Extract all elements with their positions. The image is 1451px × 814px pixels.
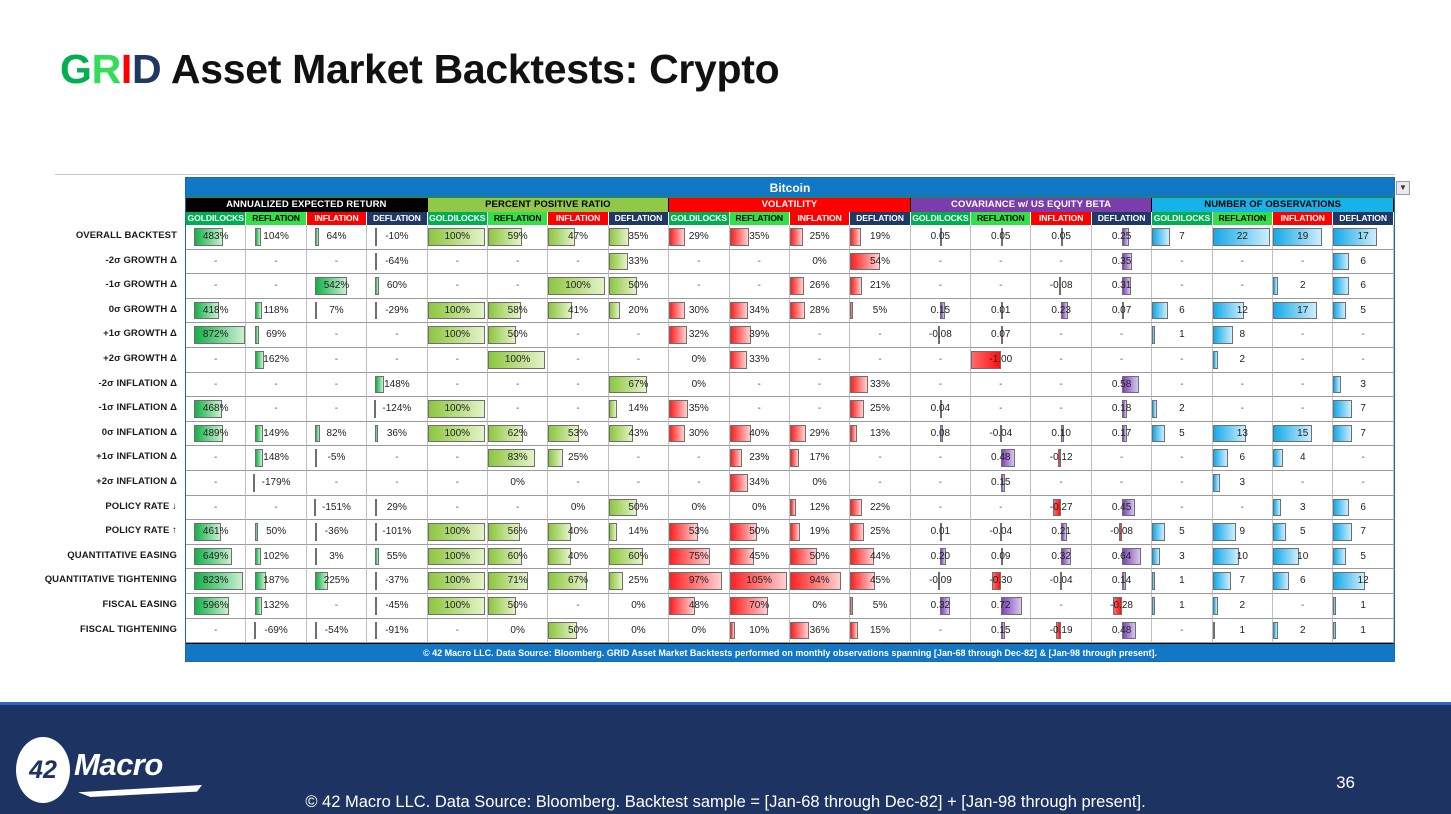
cell-aer-inflation[interactable]: - <box>307 250 367 275</box>
cell-vol-goldilocks[interactable]: 0% <box>669 348 729 373</box>
cell-ppr-deflation[interactable]: 0% <box>609 594 669 619</box>
cell-obs-goldilocks[interactable]: 3 <box>1152 545 1212 570</box>
cell-ppr-goldilocks[interactable]: - <box>428 373 488 398</box>
cell-aer-deflation[interactable]: -10% <box>367 225 427 250</box>
cell-cov-reflation[interactable]: 0.48 <box>971 446 1031 471</box>
cell-cov-inflation[interactable]: 0.21 <box>1031 520 1091 545</box>
cell-cov-reflation[interactable]: 0.07 <box>971 323 1031 348</box>
cell-aer-reflation[interactable]: 149% <box>246 422 306 447</box>
cell-vol-inflation[interactable]: 17% <box>790 446 850 471</box>
cell-obs-deflation[interactable]: - <box>1333 446 1393 471</box>
cell-obs-reflation[interactable]: 9 <box>1213 520 1273 545</box>
cell-cov-deflation[interactable]: 0.25 <box>1092 225 1152 250</box>
cell-aer-inflation[interactable]: -36% <box>307 520 367 545</box>
cell-ppr-reflation[interactable]: 0% <box>488 619 548 644</box>
cell-cov-reflation[interactable]: 0.72 <box>971 594 1031 619</box>
cell-obs-reflation[interactable]: 2 <box>1213 594 1273 619</box>
cell-obs-deflation[interactable]: - <box>1333 323 1393 348</box>
cell-obs-reflation[interactable]: - <box>1213 373 1273 398</box>
cell-cov-reflation[interactable]: -0.04 <box>971 422 1031 447</box>
cell-vol-goldilocks[interactable]: 48% <box>669 594 729 619</box>
cell-aer-goldilocks[interactable]: 596% <box>186 594 246 619</box>
cell-cov-goldilocks[interactable]: - <box>911 471 971 496</box>
cell-aer-reflation[interactable]: 69% <box>246 323 306 348</box>
cell-aer-deflation[interactable]: -124% <box>367 397 427 422</box>
cell-aer-deflation[interactable]: 29% <box>367 496 427 521</box>
cell-aer-goldilocks[interactable]: 461% <box>186 520 246 545</box>
cell-vol-reflation[interactable]: 23% <box>730 446 790 471</box>
cell-aer-goldilocks[interactable]: 823% <box>186 569 246 594</box>
cell-vol-inflation[interactable]: 12% <box>790 496 850 521</box>
cell-ppr-goldilocks[interactable]: 100% <box>428 569 488 594</box>
cell-vol-reflation[interactable]: - <box>730 397 790 422</box>
cell-vol-reflation[interactable]: - <box>730 373 790 398</box>
cell-vol-reflation[interactable]: 0% <box>730 496 790 521</box>
cell-ppr-deflation[interactable]: 25% <box>609 569 669 594</box>
cell-obs-inflation[interactable]: - <box>1273 471 1333 496</box>
cell-vol-inflation[interactable]: 19% <box>790 520 850 545</box>
cell-ppr-reflation[interactable]: 100% <box>488 348 548 373</box>
cell-ppr-inflation[interactable]: 40% <box>548 545 608 570</box>
cell-aer-goldilocks[interactable]: 872% <box>186 323 246 348</box>
cell-obs-deflation[interactable]: 5 <box>1333 545 1393 570</box>
cell-cov-reflation[interactable]: -1.00 <box>971 348 1031 373</box>
cell-cov-deflation[interactable]: 0.14 <box>1092 569 1152 594</box>
cell-vol-reflation[interactable]: 105% <box>730 569 790 594</box>
cell-cov-goldilocks[interactable]: - <box>911 274 971 299</box>
cell-aer-deflation[interactable]: - <box>367 323 427 348</box>
cell-obs-inflation[interactable]: - <box>1273 323 1333 348</box>
cell-aer-goldilocks[interactable]: 649% <box>186 545 246 570</box>
cell-ppr-reflation[interactable]: - <box>488 250 548 275</box>
cell-vol-deflation[interactable]: - <box>850 323 910 348</box>
cell-aer-inflation[interactable]: -151% <box>307 496 367 521</box>
cell-vol-deflation[interactable]: 44% <box>850 545 910 570</box>
cell-ppr-inflation[interactable]: - <box>548 348 608 373</box>
cell-obs-reflation[interactable]: 2 <box>1213 348 1273 373</box>
cell-ppr-reflation[interactable]: - <box>488 373 548 398</box>
cell-vol-goldilocks[interactable]: 35% <box>669 397 729 422</box>
cell-vol-goldilocks[interactable]: - <box>669 471 729 496</box>
cell-obs-inflation[interactable]: 2 <box>1273 619 1333 644</box>
cell-aer-goldilocks[interactable]: - <box>186 446 246 471</box>
cell-ppr-reflation[interactable]: - <box>488 496 548 521</box>
cell-vol-deflation[interactable]: 15% <box>850 619 910 644</box>
cell-aer-inflation[interactable]: 225% <box>307 569 367 594</box>
cell-vol-reflation[interactable]: 33% <box>730 348 790 373</box>
cell-ppr-deflation[interactable]: 50% <box>609 496 669 521</box>
cell-ppr-reflation[interactable]: 58% <box>488 299 548 324</box>
cell-ppr-reflation[interactable]: 0% <box>488 471 548 496</box>
cell-cov-inflation[interactable]: -0.27 <box>1031 496 1091 521</box>
cell-cov-inflation[interactable]: -0.12 <box>1031 446 1091 471</box>
cell-cov-reflation[interactable]: 0.09 <box>971 545 1031 570</box>
cell-aer-reflation[interactable]: - <box>246 250 306 275</box>
cell-cov-reflation[interactable]: 0.15 <box>971 619 1031 644</box>
cell-cov-deflation[interactable]: 0.17 <box>1092 422 1152 447</box>
cell-aer-deflation[interactable]: 55% <box>367 545 427 570</box>
cell-ppr-goldilocks[interactable]: - <box>428 446 488 471</box>
cell-vol-reflation[interactable]: 70% <box>730 594 790 619</box>
cell-ppr-inflation[interactable]: - <box>548 250 608 275</box>
cell-vol-deflation[interactable]: 54% <box>850 250 910 275</box>
cell-ppr-reflation[interactable]: 50% <box>488 594 548 619</box>
cell-vol-deflation[interactable]: 25% <box>850 397 910 422</box>
cell-ppr-deflation[interactable]: 0% <box>609 619 669 644</box>
cell-vol-inflation[interactable]: 29% <box>790 422 850 447</box>
cell-obs-inflation[interactable]: - <box>1273 373 1333 398</box>
cell-obs-goldilocks[interactable]: - <box>1152 619 1212 644</box>
cell-aer-deflation[interactable]: -45% <box>367 594 427 619</box>
cell-aer-goldilocks[interactable]: - <box>186 619 246 644</box>
cell-ppr-inflation[interactable]: - <box>548 323 608 348</box>
cell-obs-reflation[interactable]: 6 <box>1213 446 1273 471</box>
cell-vol-goldilocks[interactable]: 32% <box>669 323 729 348</box>
cell-cov-inflation[interactable]: 0.10 <box>1031 422 1091 447</box>
cell-obs-deflation[interactable]: 1 <box>1333 619 1393 644</box>
cell-cov-inflation[interactable]: -0.04 <box>1031 569 1091 594</box>
cell-vol-inflation[interactable]: 36% <box>790 619 850 644</box>
cell-vol-reflation[interactable]: 50% <box>730 520 790 545</box>
cell-ppr-inflation[interactable]: 50% <box>548 619 608 644</box>
cell-obs-deflation[interactable]: 3 <box>1333 373 1393 398</box>
cell-ppr-reflation[interactable]: 71% <box>488 569 548 594</box>
cell-cov-reflation[interactable]: - <box>971 373 1031 398</box>
cell-aer-inflation[interactable]: -54% <box>307 619 367 644</box>
cell-ppr-inflation[interactable]: - <box>548 594 608 619</box>
cell-cov-goldilocks[interactable]: 0.20 <box>911 545 971 570</box>
cell-vol-deflation[interactable]: 25% <box>850 520 910 545</box>
cell-obs-reflation[interactable]: 3 <box>1213 471 1273 496</box>
cell-obs-inflation[interactable]: 5 <box>1273 520 1333 545</box>
cell-cov-reflation[interactable]: - <box>971 250 1031 275</box>
cell-cov-deflation[interactable]: 0.18 <box>1092 397 1152 422</box>
cell-aer-reflation[interactable]: 118% <box>246 299 306 324</box>
cell-cov-inflation[interactable]: - <box>1031 373 1091 398</box>
cell-aer-inflation[interactable]: - <box>307 323 367 348</box>
cell-cov-goldilocks[interactable]: - <box>911 619 971 644</box>
cell-obs-reflation[interactable]: 1 <box>1213 619 1273 644</box>
cell-aer-inflation[interactable]: -5% <box>307 446 367 471</box>
cell-obs-reflation[interactable]: 10 <box>1213 545 1273 570</box>
cell-vol-reflation[interactable]: - <box>730 250 790 275</box>
cell-ppr-deflation[interactable]: 35% <box>609 225 669 250</box>
cell-vol-reflation[interactable]: 35% <box>730 225 790 250</box>
cell-cov-reflation[interactable]: 0.05 <box>971 225 1031 250</box>
cell-vol-inflation[interactable]: - <box>790 348 850 373</box>
cell-aer-inflation[interactable]: 3% <box>307 545 367 570</box>
cell-ppr-inflation[interactable]: - <box>548 471 608 496</box>
cell-vol-inflation[interactable]: 0% <box>790 250 850 275</box>
cell-ppr-deflation[interactable]: - <box>609 471 669 496</box>
cell-ppr-inflation[interactable]: 67% <box>548 569 608 594</box>
cell-cov-reflation[interactable]: 0.15 <box>971 471 1031 496</box>
cell-vol-goldilocks[interactable]: - <box>669 446 729 471</box>
cell-cov-goldilocks[interactable]: 0.04 <box>911 397 971 422</box>
cell-ppr-reflation[interactable]: - <box>488 397 548 422</box>
cell-ppr-goldilocks[interactable]: 100% <box>428 594 488 619</box>
cell-cov-inflation[interactable]: - <box>1031 397 1091 422</box>
cell-obs-deflation[interactable]: 7 <box>1333 397 1393 422</box>
cell-ppr-goldilocks[interactable]: 100% <box>428 323 488 348</box>
cell-ppr-deflation[interactable]: 50% <box>609 274 669 299</box>
cell-ppr-inflation[interactable]: 25% <box>548 446 608 471</box>
cell-vol-deflation[interactable]: 33% <box>850 373 910 398</box>
cell-obs-deflation[interactable]: 12 <box>1333 569 1393 594</box>
cell-ppr-reflation[interactable]: 59% <box>488 225 548 250</box>
cell-cov-deflation[interactable]: -0.28 <box>1092 594 1152 619</box>
cell-aer-deflation[interactable]: -101% <box>367 520 427 545</box>
cell-cov-goldilocks[interactable]: - <box>911 373 971 398</box>
cell-ppr-deflation[interactable]: - <box>609 446 669 471</box>
cell-cov-goldilocks[interactable]: 0.32 <box>911 594 971 619</box>
cell-ppr-goldilocks[interactable]: - <box>428 619 488 644</box>
cell-aer-deflation[interactable]: - <box>367 471 427 496</box>
cell-vol-deflation[interactable]: 5% <box>850 594 910 619</box>
cell-cov-goldilocks[interactable]: -0.08 <box>911 323 971 348</box>
cell-obs-goldilocks[interactable]: - <box>1152 274 1212 299</box>
cell-obs-inflation[interactable]: 2 <box>1273 274 1333 299</box>
cell-obs-goldilocks[interactable]: 5 <box>1152 520 1212 545</box>
cell-aer-goldilocks[interactable]: - <box>186 471 246 496</box>
cell-aer-inflation[interactable]: - <box>307 348 367 373</box>
cell-ppr-deflation[interactable]: 14% <box>609 520 669 545</box>
cell-vol-goldilocks[interactable]: - <box>669 250 729 275</box>
cell-ppr-reflation[interactable]: 56% <box>488 520 548 545</box>
cell-cov-inflation[interactable]: -0.19 <box>1031 619 1091 644</box>
cell-vol-reflation[interactable]: 39% <box>730 323 790 348</box>
cell-ppr-reflation[interactable]: - <box>488 274 548 299</box>
cell-obs-deflation[interactable]: 7 <box>1333 520 1393 545</box>
cell-aer-deflation[interactable]: -91% <box>367 619 427 644</box>
cell-obs-goldilocks[interactable]: 1 <box>1152 569 1212 594</box>
cell-ppr-deflation[interactable]: 14% <box>609 397 669 422</box>
chevron-down-icon[interactable]: ▼ <box>1396 181 1410 195</box>
cell-aer-deflation[interactable]: -64% <box>367 250 427 275</box>
cell-cov-deflation[interactable]: -0.08 <box>1092 520 1152 545</box>
cell-vol-reflation[interactable]: 34% <box>730 471 790 496</box>
cell-cov-goldilocks[interactable]: 0.15 <box>911 299 971 324</box>
cell-aer-goldilocks[interactable]: - <box>186 373 246 398</box>
cell-obs-inflation[interactable]: 4 <box>1273 446 1333 471</box>
cell-vol-goldilocks[interactable]: 30% <box>669 422 729 447</box>
cell-vol-goldilocks[interactable]: 97% <box>669 569 729 594</box>
cell-aer-reflation[interactable]: 50% <box>246 520 306 545</box>
cell-aer-deflation[interactable]: -29% <box>367 299 427 324</box>
cell-vol-deflation[interactable]: 45% <box>850 569 910 594</box>
cell-cov-deflation[interactable]: 0.35 <box>1092 250 1152 275</box>
cell-aer-reflation[interactable]: 162% <box>246 348 306 373</box>
cell-aer-reflation[interactable]: 132% <box>246 594 306 619</box>
cell-obs-deflation[interactable]: - <box>1333 348 1393 373</box>
cell-aer-inflation[interactable]: 82% <box>307 422 367 447</box>
cell-vol-goldilocks[interactable]: - <box>669 274 729 299</box>
cell-ppr-goldilocks[interactable]: - <box>428 274 488 299</box>
cell-aer-goldilocks[interactable]: - <box>186 250 246 275</box>
cell-aer-goldilocks[interactable]: - <box>186 348 246 373</box>
cell-ppr-goldilocks[interactable]: - <box>428 496 488 521</box>
cell-vol-inflation[interactable]: 26% <box>790 274 850 299</box>
cell-ppr-deflation[interactable]: - <box>609 348 669 373</box>
cell-cov-goldilocks[interactable]: 0.08 <box>911 422 971 447</box>
cell-obs-inflation[interactable]: 3 <box>1273 496 1333 521</box>
cell-cov-goldilocks[interactable]: - <box>911 348 971 373</box>
cell-obs-goldilocks[interactable]: 5 <box>1152 422 1212 447</box>
cell-ppr-goldilocks[interactable]: - <box>428 250 488 275</box>
cell-aer-inflation[interactable]: - <box>307 594 367 619</box>
cell-vol-deflation[interactable]: - <box>850 348 910 373</box>
cell-aer-goldilocks[interactable]: 468% <box>186 397 246 422</box>
cell-cov-inflation[interactable]: - <box>1031 250 1091 275</box>
cell-ppr-goldilocks[interactable]: 100% <box>428 397 488 422</box>
cell-aer-reflation[interactable]: -69% <box>246 619 306 644</box>
cell-ppr-deflation[interactable]: 33% <box>609 250 669 275</box>
cell-ppr-inflation[interactable]: 40% <box>548 520 608 545</box>
cell-aer-goldilocks[interactable]: 489% <box>186 422 246 447</box>
cell-obs-deflation[interactable]: 1 <box>1333 594 1393 619</box>
cell-cov-goldilocks[interactable]: 0.05 <box>911 225 971 250</box>
cell-cov-goldilocks[interactable]: - <box>911 446 971 471</box>
cell-aer-inflation[interactable]: 7% <box>307 299 367 324</box>
cell-ppr-deflation[interactable]: 67% <box>609 373 669 398</box>
cell-vol-goldilocks[interactable]: 0% <box>669 373 729 398</box>
cell-ppr-deflation[interactable]: 20% <box>609 299 669 324</box>
cell-ppr-inflation[interactable]: 53% <box>548 422 608 447</box>
cell-obs-deflation[interactable]: 6 <box>1333 250 1393 275</box>
cell-cov-goldilocks[interactable]: - <box>911 496 971 521</box>
cell-ppr-goldilocks[interactable]: - <box>428 471 488 496</box>
cell-cov-deflation[interactable]: 0.31 <box>1092 274 1152 299</box>
cell-obs-inflation[interactable]: 6 <box>1273 569 1333 594</box>
cell-vol-deflation[interactable]: 21% <box>850 274 910 299</box>
cell-obs-deflation[interactable]: 17 <box>1333 225 1393 250</box>
cell-obs-inflation[interactable]: - <box>1273 594 1333 619</box>
cell-cov-reflation[interactable]: - <box>971 397 1031 422</box>
cell-obs-reflation[interactable]: - <box>1213 496 1273 521</box>
cell-aer-inflation[interactable]: - <box>307 397 367 422</box>
cell-obs-goldilocks[interactable]: - <box>1152 348 1212 373</box>
cell-cov-reflation[interactable]: - <box>971 496 1031 521</box>
cell-obs-reflation[interactable]: - <box>1213 397 1273 422</box>
cell-cov-reflation[interactable]: - <box>971 274 1031 299</box>
cell-vol-goldilocks[interactable]: 53% <box>669 520 729 545</box>
cell-vol-inflation[interactable]: 94% <box>790 569 850 594</box>
cell-obs-inflation[interactable]: 17 <box>1273 299 1333 324</box>
cell-aer-inflation[interactable]: - <box>307 471 367 496</box>
cell-vol-reflation[interactable]: - <box>730 274 790 299</box>
cell-obs-reflation[interactable]: 22 <box>1213 225 1273 250</box>
cell-obs-inflation[interactable]: - <box>1273 250 1333 275</box>
cell-vol-inflation[interactable]: - <box>790 373 850 398</box>
cell-obs-reflation[interactable]: 12 <box>1213 299 1273 324</box>
cell-ppr-inflation[interactable]: 100% <box>548 274 608 299</box>
cell-obs-goldilocks[interactable]: - <box>1152 496 1212 521</box>
cell-obs-deflation[interactable]: 5 <box>1333 299 1393 324</box>
cell-vol-reflation[interactable]: 34% <box>730 299 790 324</box>
cell-obs-reflation[interactable]: - <box>1213 274 1273 299</box>
cell-vol-inflation[interactable]: 28% <box>790 299 850 324</box>
cell-aer-reflation[interactable]: - <box>246 274 306 299</box>
cell-ppr-reflation[interactable]: 60% <box>488 545 548 570</box>
cell-obs-inflation[interactable]: - <box>1273 397 1333 422</box>
cell-obs-inflation[interactable]: 10 <box>1273 545 1333 570</box>
cell-aer-reflation[interactable]: - <box>246 397 306 422</box>
cell-obs-goldilocks[interactable]: - <box>1152 446 1212 471</box>
cell-aer-goldilocks[interactable]: - <box>186 496 246 521</box>
cell-cov-inflation[interactable]: 0.23 <box>1031 299 1091 324</box>
cell-ppr-reflation[interactable]: 62% <box>488 422 548 447</box>
cell-vol-goldilocks[interactable]: 0% <box>669 619 729 644</box>
cell-cov-inflation[interactable]: - <box>1031 471 1091 496</box>
cell-vol-inflation[interactable]: 0% <box>790 594 850 619</box>
cell-ppr-goldilocks[interactable]: 100% <box>428 520 488 545</box>
cell-obs-goldilocks[interactable]: 6 <box>1152 299 1212 324</box>
cell-aer-inflation[interactable]: 542% <box>307 274 367 299</box>
cell-vol-inflation[interactable]: - <box>790 323 850 348</box>
cell-vol-reflation[interactable]: 45% <box>730 545 790 570</box>
cell-ppr-inflation[interactable]: 0% <box>548 496 608 521</box>
cell-aer-reflation[interactable]: - <box>246 496 306 521</box>
cell-obs-goldilocks[interactable]: 1 <box>1152 323 1212 348</box>
cell-aer-deflation[interactable]: - <box>367 446 427 471</box>
cell-cov-deflation[interactable]: 0.48 <box>1092 619 1152 644</box>
cell-cov-inflation[interactable]: - <box>1031 348 1091 373</box>
cell-vol-deflation[interactable]: 5% <box>850 299 910 324</box>
cell-ppr-goldilocks[interactable]: 100% <box>428 545 488 570</box>
cell-obs-deflation[interactable]: 7 <box>1333 422 1393 447</box>
cell-aer-reflation[interactable]: -179% <box>246 471 306 496</box>
cell-cov-reflation[interactable]: -0.30 <box>971 569 1031 594</box>
cell-ppr-goldilocks[interactable]: - <box>428 348 488 373</box>
cell-vol-inflation[interactable]: 0% <box>790 471 850 496</box>
cell-vol-goldilocks[interactable]: 29% <box>669 225 729 250</box>
cell-aer-goldilocks[interactable]: 483% <box>186 225 246 250</box>
cell-cov-reflation[interactable]: -0.04 <box>971 520 1031 545</box>
cell-cov-deflation[interactable]: - <box>1092 446 1152 471</box>
cell-ppr-deflation[interactable]: - <box>609 323 669 348</box>
cell-obs-deflation[interactable]: 6 <box>1333 496 1393 521</box>
cell-cov-goldilocks[interactable]: 0.01 <box>911 520 971 545</box>
cell-ppr-inflation[interactable]: - <box>548 373 608 398</box>
cell-cov-deflation[interactable]: 0.64 <box>1092 545 1152 570</box>
cell-cov-reflation[interactable]: 0.01 <box>971 299 1031 324</box>
cell-ppr-reflation[interactable]: 83% <box>488 446 548 471</box>
cell-cov-inflation[interactable]: - <box>1031 594 1091 619</box>
cell-vol-reflation[interactable]: 10% <box>730 619 790 644</box>
cell-ppr-deflation[interactable]: 43% <box>609 422 669 447</box>
cell-cov-inflation[interactable]: - <box>1031 323 1091 348</box>
cell-aer-reflation[interactable]: - <box>246 373 306 398</box>
cell-aer-deflation[interactable]: 60% <box>367 274 427 299</box>
cell-ppr-goldilocks[interactable]: 100% <box>428 299 488 324</box>
cell-ppr-inflation[interactable]: - <box>548 397 608 422</box>
cell-cov-deflation[interactable]: - <box>1092 348 1152 373</box>
cell-obs-goldilocks[interactable]: 2 <box>1152 397 1212 422</box>
cell-cov-deflation[interactable]: 0.58 <box>1092 373 1152 398</box>
cell-ppr-goldilocks[interactable]: 100% <box>428 225 488 250</box>
cell-obs-reflation[interactable]: 13 <box>1213 422 1273 447</box>
cell-cov-inflation[interactable]: -0.08 <box>1031 274 1091 299</box>
cell-obs-inflation[interactable]: 15 <box>1273 422 1333 447</box>
cell-aer-reflation[interactable]: 187% <box>246 569 306 594</box>
cell-ppr-deflation[interactable]: 60% <box>609 545 669 570</box>
cell-ppr-reflation[interactable]: 50% <box>488 323 548 348</box>
cell-aer-goldilocks[interactable]: - <box>186 274 246 299</box>
cell-obs-goldilocks[interactable]: - <box>1152 250 1212 275</box>
cell-cov-deflation[interactable]: - <box>1092 471 1152 496</box>
cell-cov-inflation[interactable]: 0.32 <box>1031 545 1091 570</box>
cell-cov-inflation[interactable]: 0.05 <box>1031 225 1091 250</box>
